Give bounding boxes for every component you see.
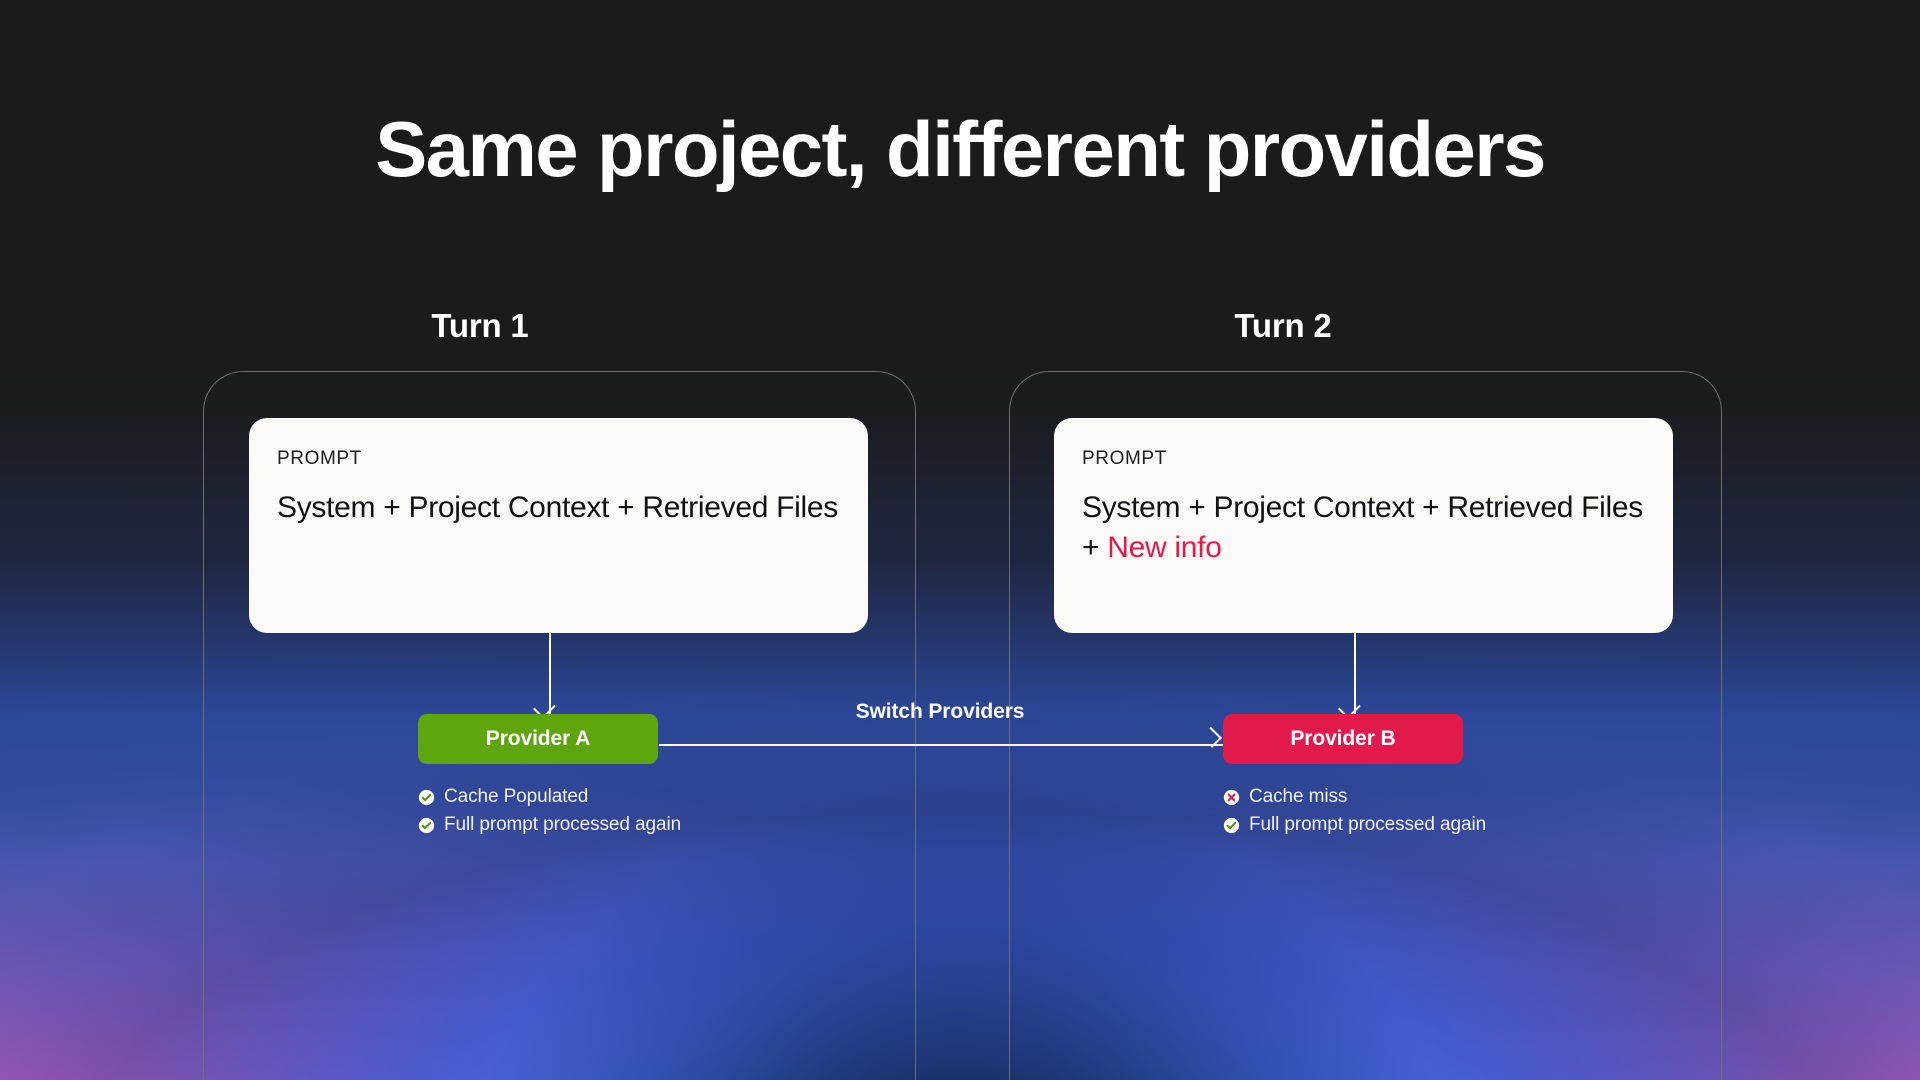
status-item: Cache miss — [1223, 786, 1486, 808]
prompt-body: System + Project Context + Retrieved Fil… — [277, 488, 840, 528]
status-item: Cache Populated — [418, 786, 681, 808]
status-label: Full prompt processed again — [1249, 814, 1486, 836]
page-title: Same project, different providers — [0, 104, 1920, 195]
turn-1-prompt-card: PROMPT System + Project Context + Retrie… — [249, 418, 868, 633]
diagram-canvas: Same project, different providers Turn 1… — [0, 0, 1920, 1080]
turn-2-heading: Turn 2 — [1163, 307, 1403, 345]
provider-b-label: Provider B — [1290, 727, 1395, 751]
status-item: Full prompt processed again — [1223, 814, 1486, 836]
turn-2-status-list: Cache miss Full prompt processed again — [1223, 786, 1486, 842]
turn-1-status-list: Cache Populated Full prompt processed ag… — [418, 786, 681, 842]
prompt-kicker: PROMPT — [1082, 448, 1645, 470]
prompt-highlight-new-info: New info — [1107, 531, 1221, 564]
check-circle-icon — [1223, 817, 1240, 834]
provider-a-label: Provider A — [486, 727, 590, 751]
prompt-kicker: PROMPT — [277, 448, 840, 470]
switch-providers-label: Switch Providers — [790, 700, 1090, 724]
status-item: Full prompt processed again — [418, 814, 681, 836]
provider-b-badge[interactable]: Provider B — [1223, 714, 1463, 764]
arrow-shaft — [659, 744, 1223, 746]
provider-a-badge[interactable]: Provider A — [418, 714, 658, 764]
status-label: Cache miss — [1249, 786, 1347, 808]
turn-2-prompt-card: PROMPT System + Project Context + Retrie… — [1054, 418, 1673, 633]
check-circle-icon — [418, 817, 435, 834]
prompt-body: System + Project Context + Retrieved Fil… — [1082, 488, 1645, 568]
status-label: Cache Populated — [444, 786, 588, 808]
check-circle-icon — [418, 789, 435, 806]
arrow-down-icon — [1344, 633, 1366, 718]
arrow-down-icon — [539, 633, 561, 718]
arrow-right-icon — [659, 738, 1223, 752]
turn-1-heading: Turn 1 — [360, 307, 600, 345]
x-circle-icon — [1223, 789, 1240, 806]
prompt-text: System + Project Context + Retrieved Fil… — [277, 491, 838, 524]
status-label: Full prompt processed again — [444, 814, 681, 836]
